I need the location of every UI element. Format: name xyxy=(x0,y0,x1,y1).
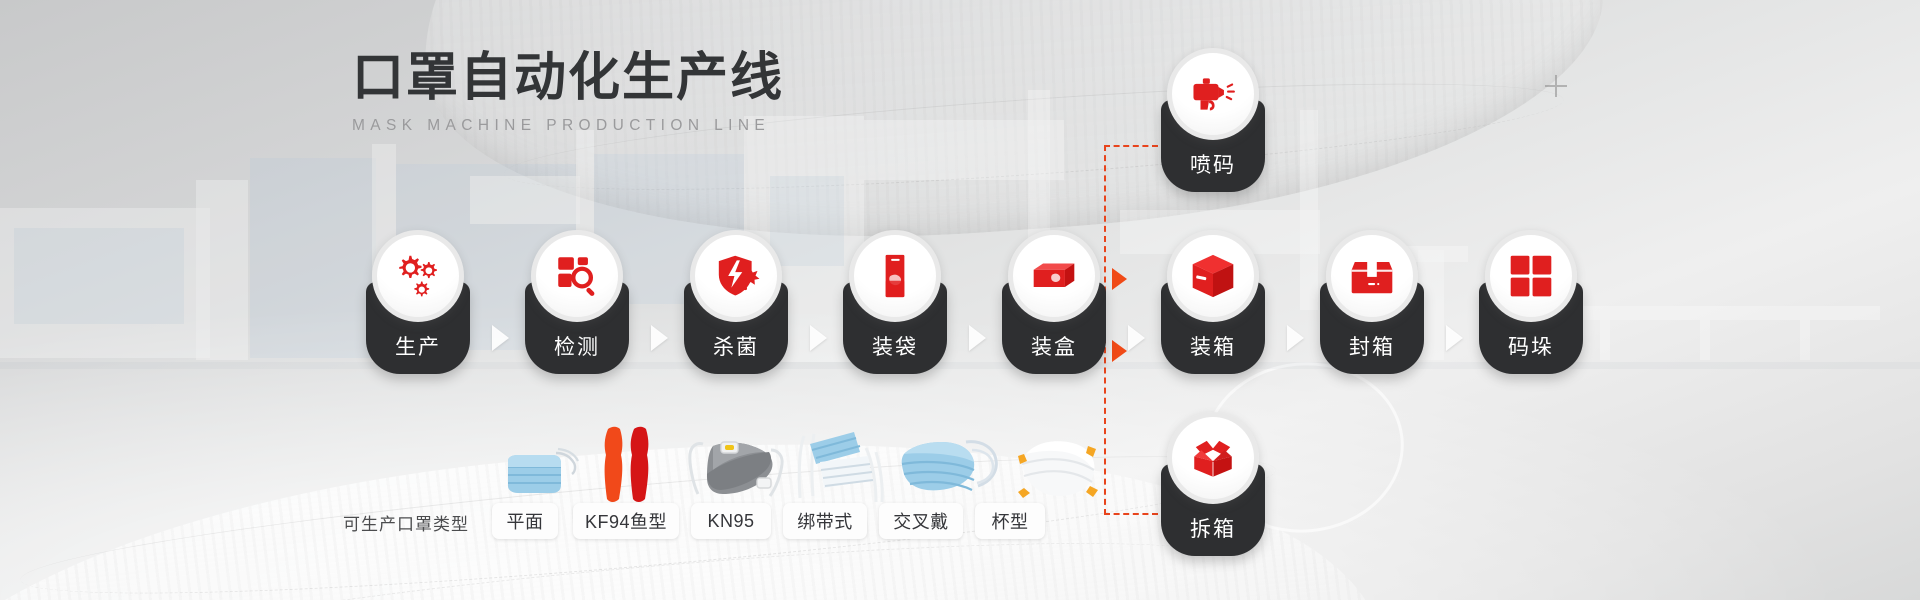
flow-arrow-5 xyxy=(1128,325,1145,351)
chip-label: 杯型 xyxy=(992,508,1029,534)
flow-node-label: 装袋 xyxy=(872,331,918,361)
flow-node-label: 检测 xyxy=(554,331,600,361)
chip-label: 平面 xyxy=(507,508,544,534)
chip-label: KF94鱼型 xyxy=(585,508,667,534)
flow-arrow-4 xyxy=(969,325,986,351)
flow-node-label: 拆箱 xyxy=(1190,513,1236,543)
magnifier-grid-icon xyxy=(531,230,623,322)
four-squares-icon xyxy=(1485,230,1577,322)
mask-box-icon xyxy=(1008,230,1100,322)
flow-arrow-7 xyxy=(1446,325,1463,351)
flow-node-label: 封箱 xyxy=(1349,331,1395,361)
flow-node-unbox[interactable]: 拆箱 xyxy=(1161,412,1265,556)
flow-arrow-3 xyxy=(810,325,827,351)
gears-icon xyxy=(372,230,464,322)
flow-node-sterilize[interactable]: 杀菌 xyxy=(684,230,788,374)
page-title: 口罩自动化生产线 xyxy=(352,48,784,109)
page-subtitle: MASK MACHINE PRODUCTION LINE xyxy=(352,117,784,135)
flow-node-label: 码垛 xyxy=(1508,331,1554,361)
flow-node-inkjet[interactable]: 喷码 xyxy=(1161,48,1265,192)
flow-node-sealing[interactable]: 封箱 xyxy=(1320,230,1424,374)
banner-stage: 口罩自动化生产线 MASK MACHINE PRODUCTION LINE 生产 xyxy=(0,0,1920,600)
mask-types-label: 可生产口罩类型 xyxy=(343,510,469,535)
mask-pouch-icon xyxy=(849,230,941,322)
mask-type-chip-3[interactable]: 绑带式 xyxy=(783,503,867,539)
flow-arrow-6 xyxy=(1287,325,1304,351)
shield-bolt-icon xyxy=(690,230,782,322)
flow-node-label: 喷码 xyxy=(1190,149,1236,179)
flow-node-inspect[interactable]: 检测 xyxy=(525,230,629,374)
chip-label: 绑带式 xyxy=(797,508,853,534)
plus-icon xyxy=(1545,75,1567,97)
flow-node-produce[interactable]: 生产 xyxy=(366,230,470,374)
mask-type-chip-0[interactable]: 平面 xyxy=(492,503,558,539)
flow-node-label: 装盒 xyxy=(1031,331,1077,361)
cube-carton-icon xyxy=(1167,230,1259,322)
mask-photo-cup-mask xyxy=(1010,432,1102,504)
orange-arrow-upper xyxy=(1112,268,1127,290)
flow-node-bagging[interactable]: 装袋 xyxy=(843,230,947,374)
orange-arrow-lower xyxy=(1112,340,1127,362)
chip-label: 交叉戴 xyxy=(893,508,949,534)
flow-arrow-1 xyxy=(492,325,509,351)
open-box-icon xyxy=(1167,412,1259,504)
flow-node-label: 杀菌 xyxy=(713,331,759,361)
mask-photo-flat-blue-mask xyxy=(500,443,596,505)
mask-photo-kn95-valve-mask xyxy=(685,430,791,502)
mask-type-chip-5[interactable]: 杯型 xyxy=(975,503,1045,539)
page-title-block: 口罩自动化生产线 MASK MACHINE PRODUCTION LINE xyxy=(352,48,784,135)
flow-node-label: 装箱 xyxy=(1190,331,1236,361)
mask-type-chip-4[interactable]: 交叉戴 xyxy=(879,503,963,539)
flow-node-boxing[interactable]: 装盒 xyxy=(1002,230,1106,374)
sealed-box-icon xyxy=(1326,230,1418,322)
flow-node-label: 生产 xyxy=(395,331,441,361)
mask-type-chip-1[interactable]: KF94鱼型 xyxy=(573,503,679,539)
mask-photo-kf94-fish-mask xyxy=(596,425,658,503)
mask-photo-cross-strap-mask xyxy=(896,432,1004,504)
mask-photo-tie-on-mask xyxy=(790,428,894,504)
mask-type-chip-2[interactable]: KN95 xyxy=(691,503,771,539)
flow-node-palletize[interactable]: 码垛 xyxy=(1479,230,1583,374)
flow-node-cartoning[interactable]: 装箱 xyxy=(1161,230,1265,374)
flow-arrow-2 xyxy=(651,325,668,351)
spray-gun-icon xyxy=(1167,48,1259,140)
chip-label: KN95 xyxy=(707,511,754,532)
